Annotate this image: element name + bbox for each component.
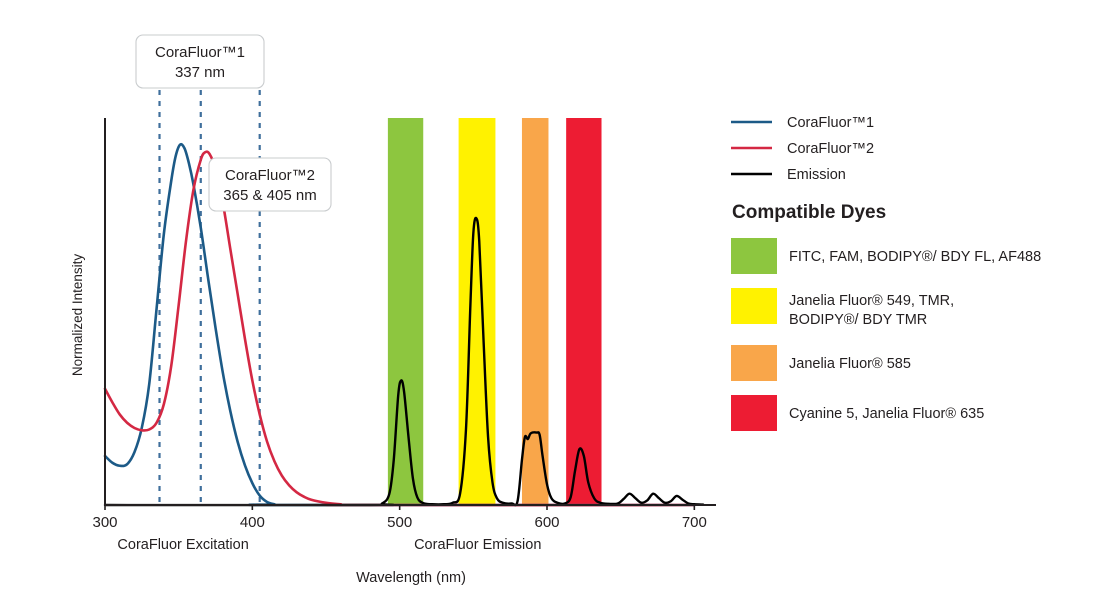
spectra-chart: 300400500600700 CoraFluor ExcitationCora… [0, 0, 1110, 612]
red-band [566, 118, 601, 505]
dye-label-0-line1: FITC, FAM, BODIPY®/ BDY FL, AF488 [789, 249, 1041, 265]
legend-label-0: CoraFluor™1 [787, 115, 874, 131]
cf1-callout-line2: 337 nm [175, 64, 225, 81]
legend-label-1: CoraFluor™2 [787, 141, 874, 157]
compatible-dyes-heading: Compatible Dyes [732, 202, 886, 223]
x-tick-label-300: 300 [92, 514, 117, 531]
cf1-callout: CoraFluor™1337 nm [136, 35, 264, 88]
x-tick-label-500: 500 [387, 514, 412, 531]
region-label-1: CoraFluor Emission [414, 537, 541, 553]
cf1-callout-line1: CoraFluor™1 [155, 44, 245, 61]
legend-label-2: Emission [787, 167, 846, 183]
dye-swatch-0 [731, 238, 777, 274]
x-tick-label-400: 400 [240, 514, 265, 531]
dye-label-1-line2: BODIPY®/ BDY TMR [789, 312, 927, 328]
orange-band [522, 118, 549, 505]
y-axis-title: Normalized Intensity [70, 254, 85, 377]
dye-label-2-line1: Janelia Fluor® 585 [789, 356, 911, 372]
region-label-0: CoraFluor Excitation [117, 537, 248, 553]
dye-swatch-1 [731, 288, 777, 324]
cf2-callout-line2: 365 & 405 nm [223, 187, 316, 204]
x-axis-title: Wavelength (nm) [356, 570, 466, 586]
x-tick-label-600: 600 [534, 514, 559, 531]
dye-swatch-2 [731, 345, 777, 381]
cf2-callout-line1: CoraFluor™2 [225, 167, 315, 184]
emission-filter-bands [388, 118, 602, 505]
x-tick-label-700: 700 [682, 514, 707, 531]
green-band [388, 118, 423, 505]
dye-label-3-line1: Cyanine 5, Janelia Fluor® 635 [789, 406, 984, 422]
dye-swatch-3 [731, 395, 777, 431]
dye-label-1-line1: Janelia Fluor® 549, TMR, [789, 293, 954, 309]
cf2-callout: CoraFluor™2365 & 405 nm [209, 158, 331, 211]
